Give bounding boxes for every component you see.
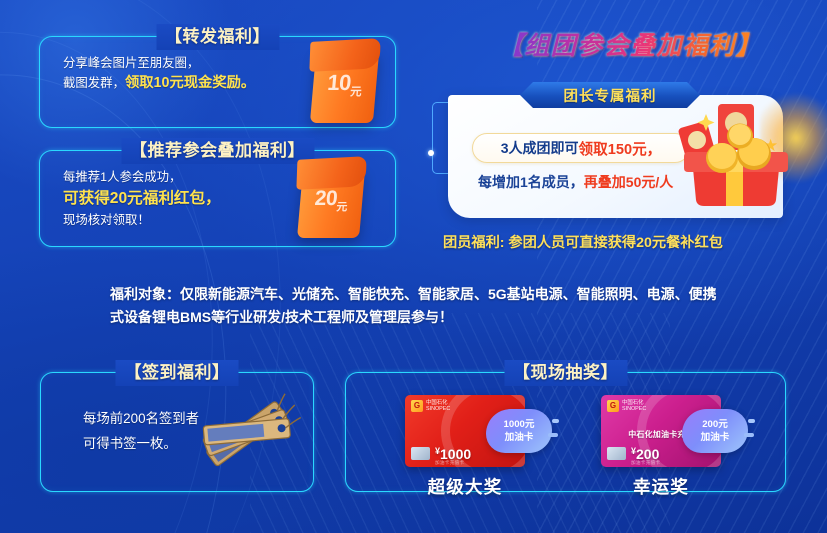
sinopec-brand-text: 中国石化 SINOPEC	[622, 400, 646, 412]
signin-benefit-line-1: 每场前200名签到者	[83, 406, 199, 431]
refer-benefit-line-3: 现场核对领取！	[63, 210, 221, 230]
forward-benefit-body: 分享峰会图片至朋友圈， 截图发群，领取10元现金奖励。	[63, 53, 255, 93]
card-chip-icon	[607, 447, 626, 460]
prize-1-label: 超级大奖	[370, 474, 560, 499]
prize-2-bubble-line-2: 加油卡	[701, 431, 730, 444]
sinopec-mark-icon: G	[607, 400, 619, 412]
prize-2-bubble: 200元 加油卡	[682, 409, 748, 453]
sinopec-brand-text: 中国石化 SINOPEC	[426, 400, 450, 412]
forward-benefit-line-2: 截图发群，领取10元现金奖励。	[63, 73, 255, 93]
prize-1-bubble-line-1: 1000元	[504, 418, 535, 431]
group-benefit-headline-text: 【组团参会叠加福利】	[498, 32, 762, 60]
group-reward-amount: 领取150元，	[579, 138, 662, 159]
promotional-poster: 【转发福利】 分享峰会图片至朋友圈， 截图发群，领取10元现金奖励。 10元 【…	[0, 0, 827, 533]
lottery-title: 【现场抽奖】	[504, 360, 627, 386]
forward-benefit-title: 【转发福利】	[156, 24, 279, 50]
envelope-flap	[296, 156, 366, 190]
signin-benefit-title: 【签到福利】	[116, 360, 239, 386]
group-reward-pill: 3人成团即可领取150元，	[472, 133, 690, 163]
prize-2-bubble-line-1: 200元	[702, 418, 728, 431]
group-benefit-headline: 【组团参会叠加福利】	[455, 26, 805, 66]
prize-item: G 中国石化 SINOPEC 中石化加油卡充值 ¥200 加油卡充值卡 200元…	[566, 395, 756, 499]
group-leader-banner: 团长专属福利	[520, 82, 700, 108]
sinopec-logo-icon: G 中国石化 SINOPEC	[607, 400, 646, 412]
envelope-amount: 10元	[312, 70, 378, 99]
red-envelope-20-illustration: 20元	[300, 158, 362, 238]
signin-benefit-line-2: 可得书签一枚。	[83, 431, 199, 456]
signin-benefit-body: 每场前200名签到者 可得书签一枚。	[83, 406, 199, 456]
group-extra-member-line: 每增加1名成员，再叠加50元/人	[478, 172, 673, 192]
bracket-dot-decoration	[428, 150, 434, 156]
refer-benefit-line-1: 每推荐1人参会成功，	[63, 167, 221, 187]
forward-benefit-line-2-prefix: 截图发群，	[63, 76, 125, 90]
sinopec-mark-icon: G	[411, 400, 423, 412]
group-leader-banner-label: 团长专属福利	[564, 85, 657, 106]
lottery-card: 【现场抽奖】 G 中国石化 SINOPEC ¥1000 加油卡充	[345, 372, 786, 492]
refer-benefit-highlight: 可获得20元福利红包，	[63, 187, 221, 210]
group-extra-amount: 再叠加50元/人	[584, 174, 673, 190]
fuel-card-2-sub: 加油卡充值卡	[631, 460, 660, 466]
card-chip-icon	[411, 447, 430, 460]
group-extra-prefix: 每增加1名成员，	[478, 174, 584, 190]
forward-benefit-line-1: 分享峰会图片至朋友圈，	[63, 53, 255, 73]
prize-1-bubble-line-2: 加油卡	[505, 431, 534, 444]
fuel-card-2-amount: ¥200	[631, 447, 659, 461]
refer-benefit-title: 【推荐参会叠加福利】	[121, 138, 314, 164]
envelope-amount: 20元	[299, 187, 363, 214]
envelope-flap	[309, 38, 380, 72]
gift-box-illustration	[678, 96, 794, 211]
sinopec-logo-icon: G 中国石化 SINOPEC	[411, 400, 450, 412]
prize-item: G 中国石化 SINOPEC ¥1000 加油卡充值卡 1000元 加油卡	[370, 395, 560, 499]
refer-benefit-body: 每推荐1人参会成功， 可获得20元福利红包， 现场核对领取！	[63, 167, 221, 230]
red-envelope-10-illustration: 10元	[313, 40, 376, 123]
forward-benefit-highlight: 领取10元现金奖励。	[125, 75, 255, 91]
group-member-benefit-note: 团员福利: 参团人员可直接获得20元餐补红包	[443, 232, 723, 252]
fuel-card-1-amount: ¥1000	[435, 447, 471, 461]
prize-2-label: 幸运奖	[566, 474, 756, 499]
group-reward-prefix: 3人成团即可	[501, 138, 579, 158]
bookmarks-illustration	[196, 388, 304, 480]
eligibility-text: 福利对象：仅限新能源汽车、光储充、智能快充、智能家居、5G基站电源、智能照明、电…	[110, 283, 730, 329]
prize-1-bubble: 1000元 加油卡	[486, 409, 552, 453]
fuel-card-1-sub: 加油卡充值卡	[435, 460, 464, 466]
